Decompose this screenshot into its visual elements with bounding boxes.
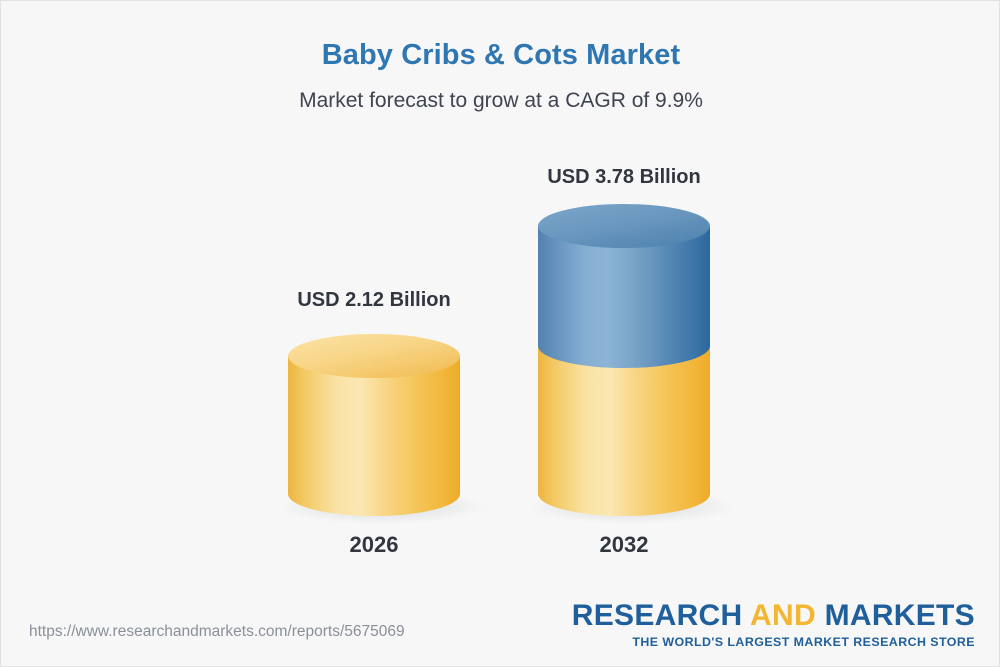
x-axis-label-2026: 2026 <box>274 532 474 558</box>
chart-plot-area: USD 2.12 Billion USD 3.78 Billion <box>1 1 1000 601</box>
logo-word-markets: MARKETS <box>825 599 975 632</box>
logo-tagline: THE WORLD'S LARGEST MARKET RESEARCH STOR… <box>572 636 975 648</box>
research-and-markets-logo[interactable]: RESEARCH AND MARKETS THE WORLD'S LARGEST… <box>572 601 975 648</box>
x-axis-label-2032: 2032 <box>524 532 724 558</box>
bar-2026 <box>278 334 486 524</box>
logo-word-research: RESEARCH <box>572 599 743 632</box>
cylinder-bars-graphic <box>1 1 1000 601</box>
bar-2032 <box>528 204 736 524</box>
report-url[interactable]: https://www.researchandmarkets.com/repor… <box>29 623 405 641</box>
infographic-canvas: Baby Cribs & Cots Market Market forecast… <box>0 0 1000 667</box>
logo-wordmark: RESEARCH AND MARKETS <box>572 601 975 631</box>
logo-word-and: AND <box>743 599 825 632</box>
